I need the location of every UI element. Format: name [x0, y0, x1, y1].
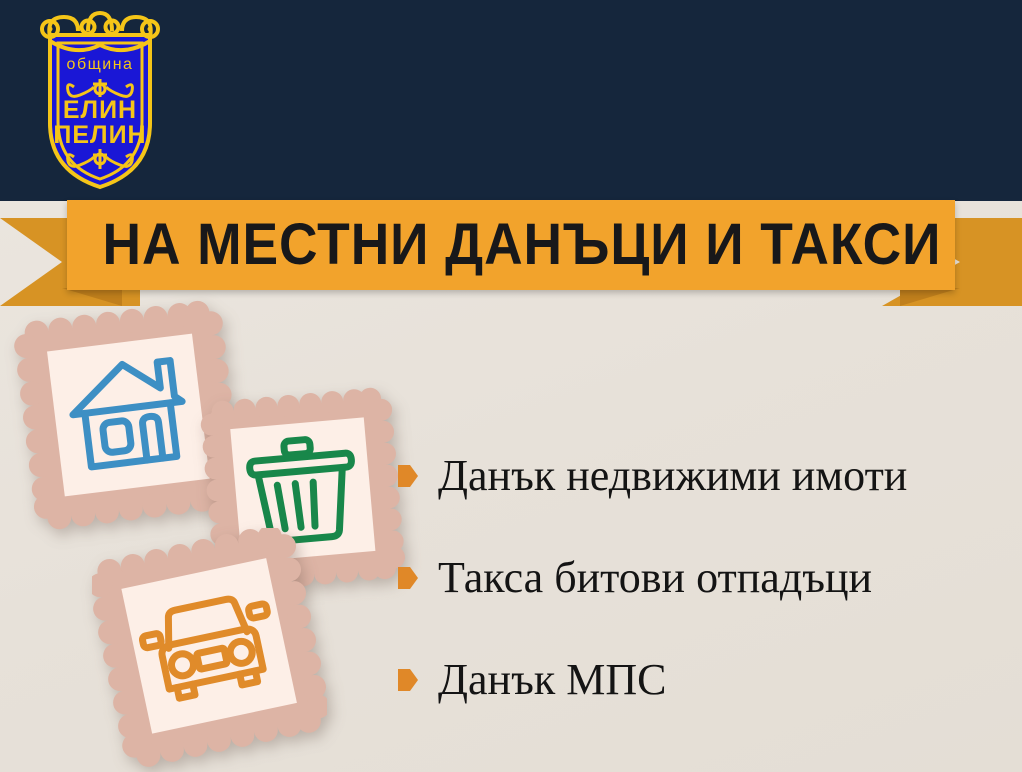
ribbon-banner: НА МЕСТНИ ДАНЪЦИ И ТАКСИ: [0, 196, 1022, 306]
list-item-label: Данък МПС: [438, 656, 666, 704]
coat-of-arms-icon: община ЕЛИН ПЕЛИН: [16, 5, 184, 193]
logo-name-line1: ЕЛИН: [63, 96, 137, 124]
municipality-logo: община ЕЛИН ПЕЛИН: [16, 5, 184, 193]
list-item-label: Данък недвижими имоти: [438, 452, 907, 500]
list-item[interactable]: Данък МПС: [398, 629, 1010, 731]
list-item[interactable]: Данък недвижими имоти: [398, 425, 1010, 527]
stamp-card-vehicle: [92, 528, 327, 772]
ribbon-main-panel: НА МЕСТНИ ДАНЪЦИ И ТАКСИ: [67, 200, 955, 290]
stamp-car-graphic: [92, 528, 327, 772]
logo-name-line2: ПЕЛИН: [53, 121, 146, 149]
list-item-label: Такса битови отпадъци: [438, 554, 872, 602]
logo-municipality-word: община: [67, 56, 134, 73]
arrow-bullet-icon: [398, 465, 418, 487]
list-item[interactable]: Такса битови отпадъци: [398, 527, 1010, 629]
ribbon-label: НА МЕСТНИ ДАНЪЦИ И ТАКСИ: [103, 200, 920, 290]
poster-canvas: община ЕЛИН ПЕЛИН ПРОВЕРКА И ПЛАЩАНЕ НА …: [0, 0, 1022, 772]
tax-type-list: Данък недвижими имоти Такса битови отпад…: [398, 425, 1010, 731]
arrow-bullet-icon: [398, 567, 418, 589]
arrow-bullet-icon: [398, 669, 418, 691]
